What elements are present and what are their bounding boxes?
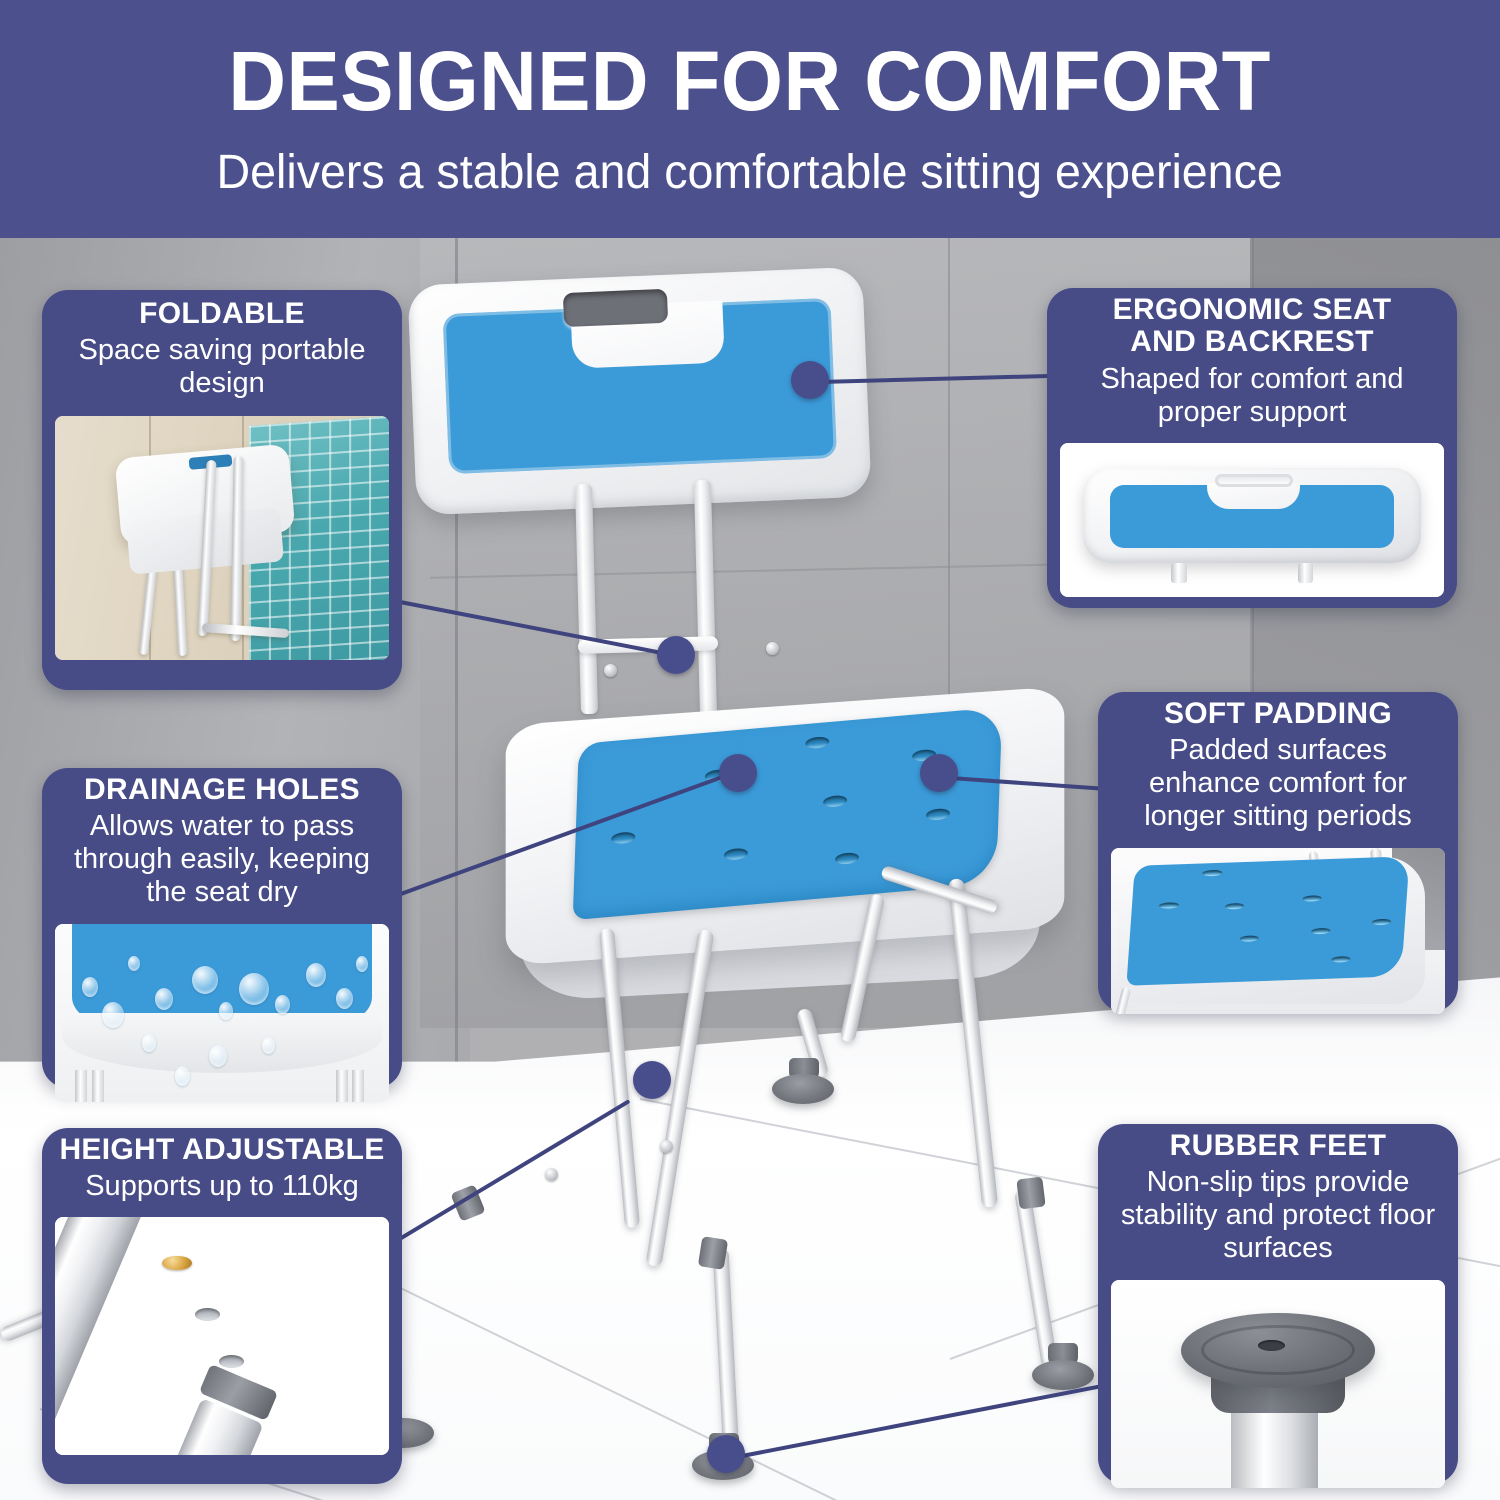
water-droplet [209, 1045, 227, 1067]
drainage-hole [926, 808, 950, 821]
drainage-hole [1311, 928, 1331, 935]
water-droplet [306, 963, 326, 987]
drainage-hole [611, 831, 635, 844]
rubber-foot [1032, 1360, 1094, 1390]
leg-tube-under-foot [1231, 1404, 1318, 1487]
mini-backrest-handle [1215, 474, 1293, 486]
mini-chair-leg [75, 1070, 87, 1102]
water-droplet [336, 988, 353, 1009]
page-subtitle: Delivers a stable and comfortable sittin… [217, 145, 1283, 200]
callout-text-height-adjustable: HEIGHT ADJUSTABLE Supports up to 110kg [42, 1128, 402, 1215]
backrest-blue-padding [443, 298, 837, 474]
drainage-hole [1225, 902, 1245, 909]
mini-chair-leg [336, 1070, 348, 1102]
water-droplet [102, 1002, 124, 1028]
drainage-hole [805, 736, 829, 749]
water-droplet [142, 1034, 156, 1052]
frame-screw [545, 1168, 558, 1181]
frame-screw [660, 1140, 673, 1153]
backrest-post-left [575, 484, 598, 714]
height-adjust-hole [195, 1308, 220, 1321]
callout-text-drainage: DRAINAGE HOLES Allows water to pass thro… [42, 768, 402, 922]
callout-photo-drainage [55, 924, 389, 1102]
callout-text-foldable: FOLDABLE Space saving portable design [42, 290, 402, 412]
callout-photo-ergonomic [1060, 443, 1444, 597]
drainage-hole [1203, 870, 1223, 877]
rubber-foot-center-hole [1258, 1340, 1285, 1351]
callout-photo-foldable [55, 416, 389, 660]
water-droplet [356, 956, 368, 972]
callout-title-drainage: DRAINAGE HOLES [56, 774, 388, 806]
callout-card-rubber-feet[interactable]: RUBBER FEET Non-slip tips provide stabil… [1098, 1124, 1458, 1484]
chair-leg-right-lower [1014, 1188, 1058, 1368]
callout-text-ergonomic: ERGONOMIC SEAT AND BACKREST Shaped for c… [1047, 288, 1457, 441]
water-droplet [155, 988, 173, 1010]
callout-photo-height-adjustable [55, 1217, 389, 1455]
water-droplet [239, 973, 269, 1005]
callout-desc-soft-padding: Padded surfaces enhance comfort for long… [1112, 734, 1444, 833]
rubber-foot [772, 1074, 834, 1104]
callout-title-rubber-feet: RUBBER FEET [1112, 1130, 1444, 1162]
drainage-hole [1159, 902, 1179, 909]
chair-leg-front-left-lower [713, 1248, 740, 1459]
backrest-handle-cutout [563, 289, 668, 327]
callout-card-ergonomic[interactable]: ERGONOMIC SEAT AND BACKREST Shaped for c… [1047, 288, 1457, 608]
mini-backrest-pad [1110, 485, 1394, 548]
height-adjust-pin [162, 1256, 192, 1271]
mini-backrest-shell [1083, 468, 1421, 563]
mini-backrest-post [1298, 563, 1313, 583]
callout-card-height-adjustable[interactable]: HEIGHT ADJUSTABLE Supports up to 110kg [42, 1128, 402, 1484]
leg-adjust-band [698, 1236, 728, 1270]
callout-desc-foldable: Space saving portable design [56, 334, 388, 400]
drainage-hole [1239, 935, 1259, 942]
callout-title-soft-padding: SOFT PADDING [1112, 698, 1444, 730]
drainage-hole [835, 852, 859, 865]
callout-text-soft-padding: SOFT PADDING Padded surfaces enhance com… [1098, 692, 1458, 846]
frame-screw [604, 664, 617, 677]
connector-dot-drainage [719, 754, 757, 792]
water-droplet [82, 977, 98, 997]
header-banner: DESIGNED FOR COMFORT Delivers a stable a… [0, 0, 1500, 238]
drainage-hole [823, 795, 847, 808]
water-droplet [219, 1002, 233, 1020]
mini-backrest-post [1171, 563, 1186, 583]
connector-dot-rubber-feet [707, 1435, 745, 1473]
callout-card-drainage[interactable]: DRAINAGE HOLES Allows water to pass thro… [42, 768, 402, 1088]
drainage-hole [1302, 895, 1322, 902]
frame-screw [766, 642, 779, 655]
drainage-hole [724, 848, 748, 861]
callout-desc-rubber-feet: Non-slip tips provide stability and prot… [1112, 1166, 1444, 1265]
connector-dot-height [633, 1061, 671, 1099]
connector-dot-foldable [657, 636, 695, 674]
drainage-hole [1372, 919, 1392, 926]
callout-card-foldable[interactable]: FOLDABLE Space saving portable design [42, 290, 402, 690]
callout-title-height-adjustable: HEIGHT ADJUSTABLE [56, 1134, 388, 1166]
callout-title-foldable: FOLDABLE [56, 298, 388, 330]
mini-backrest-notch [1207, 483, 1301, 509]
mini-blue-pad [1126, 856, 1409, 985]
backrest-post-right [694, 480, 717, 718]
drainage-hole [1331, 956, 1351, 963]
water-droplet [192, 966, 218, 994]
callout-desc-ergonomic: Shaped for comfort and proper support [1061, 363, 1443, 429]
callout-desc-drainage: Allows water to pass through easily, kee… [56, 810, 388, 909]
page-title: DESIGNED FOR COMFORT [229, 39, 1271, 123]
mini-chair-leg [92, 1070, 104, 1102]
callout-photo-soft-padding [1111, 848, 1445, 1014]
leg-adjust-band [1016, 1177, 1045, 1210]
callout-photo-rubber-feet [1111, 1280, 1445, 1488]
callout-card-soft-padding[interactable]: SOFT PADDING Padded surfaces enhance com… [1098, 692, 1458, 1012]
connector-dot-soft-padding [920, 754, 958, 792]
connector-dot-ergonomic [791, 361, 829, 399]
callout-title-ergonomic-line2: AND BACKREST [1061, 326, 1443, 358]
callout-text-rubber-feet: RUBBER FEET Non-slip tips provide stabil… [1098, 1124, 1458, 1278]
callout-desc-height-adjustable: Supports up to 110kg [56, 1170, 388, 1203]
callout-title-ergonomic: ERGONOMIC SEAT [1061, 294, 1443, 326]
mini-chair-leg [352, 1070, 364, 1102]
